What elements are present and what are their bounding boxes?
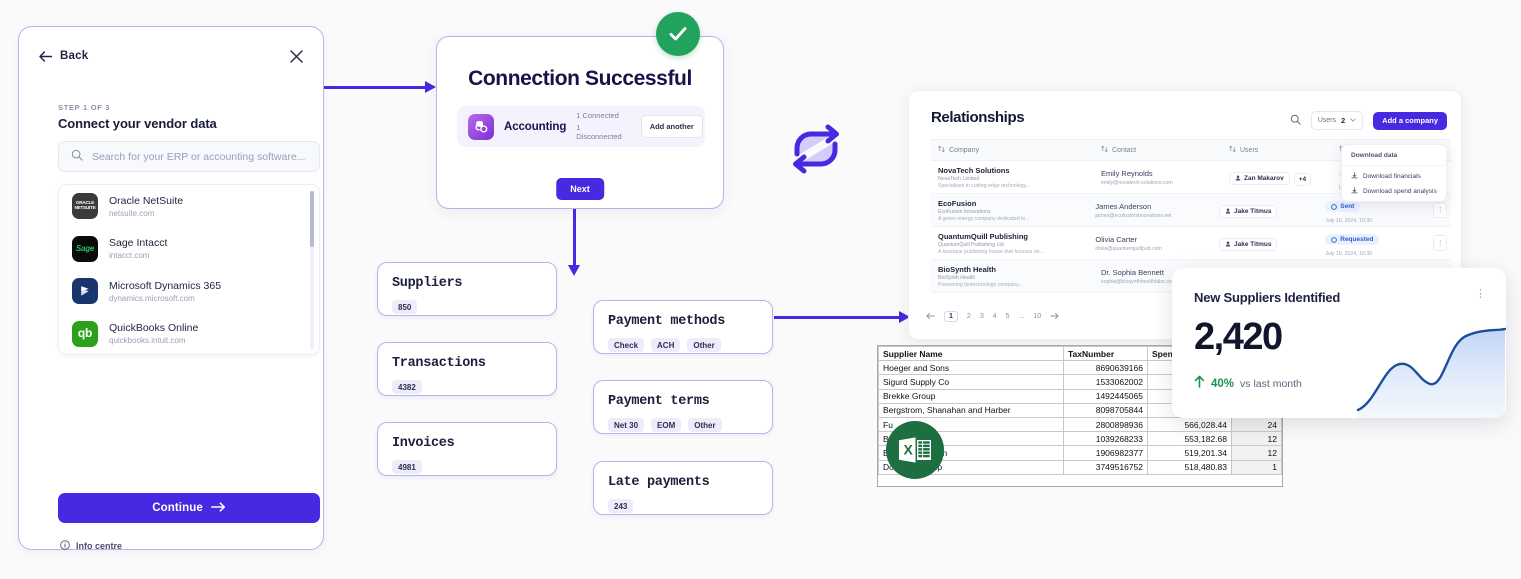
card-title: Invoices — [392, 436, 542, 451]
back-label: Back — [60, 50, 88, 62]
vendor-text: Oracle NetSuitenetsuite.com — [109, 195, 183, 218]
vendor-text: QuickBooks Onlinequickbooks.intuit.com — [109, 322, 198, 345]
card-title: Suppliers — [392, 276, 542, 291]
vendor-list[interactable]: ORACLE NETSUITEOracle NetSuitenetsuite.c… — [58, 184, 320, 355]
vendor-name: Microsoft Dynamics 365 — [109, 280, 221, 292]
cell-users: Jake Titmus — [1219, 201, 1325, 219]
cell-spend: 518,480.83 — [1148, 460, 1232, 474]
cell-company: QuantumQuill PublishingQuantumQuill Publ… — [931, 232, 1095, 255]
connection-title: Connection Successful — [437, 67, 723, 91]
cell-supplier: Bergstrom, Shanahan and Harber — [879, 403, 1064, 417]
pagination-next[interactable] — [1050, 307, 1059, 325]
download-data-menu: Download data Download financials Downlo… — [1341, 144, 1447, 202]
card-title: Late payments — [608, 475, 758, 490]
add-company-button[interactable]: Add a company — [1373, 112, 1447, 130]
card-chips: Net 30 EOM Other — [608, 418, 758, 432]
menu-item-label: Download financials — [1363, 173, 1421, 180]
chip: 4981 — [392, 460, 422, 474]
pagination-page[interactable]: 5 — [1006, 313, 1010, 320]
pagination-page[interactable]: 2 — [967, 313, 971, 320]
arrow-panel-to-connection — [324, 86, 427, 89]
erp-connect-panel: Back STEP 1 OF 3 Connect your vendor dat… — [18, 26, 324, 550]
search-placeholder: Search for your ERP or accounting softwa… — [92, 151, 305, 163]
data-card-payment-terms: Payment terms Net 30 EOM Other — [593, 380, 773, 434]
download-icon — [1351, 187, 1358, 196]
cell-tax: 8690639166 — [1064, 361, 1148, 375]
kpi-delta-pct: 40% — [1211, 378, 1234, 390]
column-header-contact[interactable]: Contact — [1101, 145, 1229, 155]
cell-status: RequestedJuly 10, 2024, 10:30 — [1325, 230, 1433, 257]
pagination-prev[interactable] — [926, 307, 935, 325]
connection-stats: 1 Connected 1 Disconnected — [576, 111, 621, 141]
card-chips: 850 — [392, 300, 542, 314]
cell-contact: Emily Reynoldsemily@novatech-solutions.c… — [1101, 169, 1229, 186]
data-card-invoices: Invoices 4981 — [377, 422, 557, 476]
download-menu-title: Download data — [1342, 145, 1446, 166]
cell-spend: 566,028.44 — [1148, 417, 1232, 431]
arrow-head-1 — [425, 81, 436, 93]
users-filter-count: 2 — [1341, 116, 1345, 125]
sort-icon — [1229, 145, 1236, 155]
chip: 243 — [608, 499, 633, 513]
sort-icon — [1101, 145, 1108, 155]
kpi-card-new-suppliers: New Suppliers Identified ⋮ 2,420 40% vs … — [1172, 268, 1506, 418]
sheet-col-supplier: Supplier Name — [879, 347, 1064, 361]
search-icon[interactable] — [1290, 112, 1301, 130]
users-filter-label: Users — [1318, 117, 1336, 124]
info-icon — [60, 537, 70, 555]
data-card-late-payments: Late payments 243 — [593, 461, 773, 515]
status-badge: Requested — [1325, 234, 1379, 245]
info-centre-label: Info centre — [76, 541, 122, 551]
chip: 850 — [392, 300, 417, 314]
cell-users: Zan Makarov+4 — [1229, 168, 1339, 186]
more-vertical-icon[interactable]: ⋮ — [1475, 290, 1486, 299]
integration-label: Accounting — [504, 121, 566, 133]
cell-spend: 553,182.68 — [1148, 432, 1232, 446]
pagination-pages: 12345...10 — [944, 311, 1041, 322]
cell-tax: 1906982377 — [1064, 446, 1148, 460]
kpi-title: New Suppliers Identified — [1194, 290, 1340, 305]
status-timestamp: July 10, 2024, 10:30 — [1325, 251, 1433, 257]
vendor-rows: ORACLE NETSUITEOracle NetSuitenetsuite.c… — [59, 185, 319, 355]
accounting-icon — [468, 114, 494, 140]
chip: Other — [688, 418, 721, 432]
close-icon[interactable] — [290, 50, 303, 63]
vendor-url: netsuite.com — [109, 209, 183, 218]
chip: EOM — [651, 418, 681, 432]
kpi-sparkline — [1356, 322, 1506, 418]
sort-icon — [938, 145, 945, 155]
column-label: Company — [949, 147, 979, 154]
vendor-list-item[interactable]: Microsoft Dynamics 365dynamics.microsoft… — [59, 270, 319, 313]
continue-button[interactable]: Continue — [58, 493, 320, 523]
info-centre-link[interactable]: Info centre — [60, 537, 122, 555]
page-title: Connect your vendor data — [58, 116, 286, 131]
card-chips: Check ACH Other — [608, 338, 758, 352]
chip: Other — [687, 338, 720, 352]
column-label: Contact — [1112, 147, 1136, 154]
cell-company: NovaTech SolutionsNovaTech LimitedSpecia… — [931, 166, 1101, 189]
vendor-logo-icon — [72, 278, 98, 304]
cell-tax: 2800898936 — [1064, 417, 1148, 431]
vendor-url: dynamics.microsoft.com — [109, 294, 221, 303]
menu-item-label: Download spend analysis — [1363, 188, 1437, 195]
pagination: 12345...10 — [926, 307, 1059, 325]
vendor-list-item[interactable]: SageSage Intacctintacct.com — [59, 228, 319, 271]
cell-tax: 1039268233 — [1064, 432, 1148, 446]
data-card-suppliers: Suppliers 850 — [377, 262, 557, 316]
vendor-text: Sage Intacctintacct.com — [109, 237, 167, 260]
continue-label: Continue — [152, 502, 203, 514]
pagination-page[interactable]: 10 — [1033, 313, 1041, 320]
card-title: Transactions — [392, 356, 542, 371]
cell-tax: 8098705844 — [1064, 403, 1148, 417]
pagination-page[interactable]: ... — [1019, 313, 1025, 320]
cell-contact: Olivia Carterolivia@quantumquillpub.com — [1095, 235, 1219, 252]
pagination-page[interactable]: 1 — [944, 311, 958, 322]
cell-count: 24 — [1232, 417, 1282, 431]
kpi-delta-label: vs last month — [1240, 378, 1302, 390]
status-timestamp: July 10, 2024, 10:30 — [1325, 218, 1433, 224]
relationships-actions: Users 2 Add a company — [1290, 111, 1447, 130]
excel-icon: X — [886, 421, 944, 479]
vendor-text: Microsoft Dynamics 365dynamics.microsoft… — [109, 280, 221, 303]
chip: Net 30 — [608, 418, 644, 432]
card-chips: 243 — [608, 499, 758, 513]
spreadsheet-row[interactable]: Fu2800898936566,028.4424 — [879, 417, 1282, 431]
vendor-name: Sage Intacct — [109, 237, 167, 249]
canvas: Back STEP 1 OF 3 Connect your vendor dat… — [0, 0, 1521, 579]
vendor-logo-icon: ORACLE NETSUITE — [72, 193, 98, 219]
vendor-url: quickbooks.intuit.com — [109, 336, 198, 345]
chip: 4382 — [392, 380, 422, 394]
add-another-button[interactable]: Add another — [641, 115, 703, 138]
cell-spend: 519,201.34 — [1148, 446, 1232, 460]
card-chips: 4382 — [392, 380, 542, 394]
step-eyebrow: STEP 1 OF 3 — [58, 101, 286, 112]
chip: Check — [608, 338, 644, 352]
connection-successful-card: Connection Successful Accounting 1 Conne… — [436, 36, 724, 209]
integration-row: Accounting 1 Connected 1 Disconnected Ad… — [457, 106, 705, 147]
pagination-page[interactable]: 4 — [993, 313, 997, 320]
cell-tax: 1533062002 — [1064, 375, 1148, 389]
status-badge: Sent — [1325, 201, 1360, 212]
column-header-company[interactable]: Company — [931, 145, 1101, 155]
kpi-value: 2,420 — [1194, 316, 1282, 359]
vendor-name: QuickBooks Online — [109, 322, 198, 334]
sync-loop-icon — [785, 118, 847, 180]
search-icon — [71, 148, 83, 166]
users-filter-select[interactable]: Users 2 — [1311, 111, 1363, 130]
sheet-col-tax: TaxNumber — [1064, 347, 1148, 361]
card-chips: 4981 — [392, 460, 542, 474]
table-row[interactable]: QuantumQuill PublishingQuantumQuill Publ… — [931, 227, 1451, 260]
cell-supplier: Hoeger and Sons — [879, 361, 1064, 375]
chip: ACH — [651, 338, 680, 352]
vendor-url: intacct.com — [109, 251, 167, 260]
cell-contact: James Andersonjames@ecofusioninnovations… — [1095, 202, 1219, 219]
arrow-up-icon — [1194, 375, 1205, 393]
vendor-logo-icon: qb — [72, 321, 98, 347]
user-pill[interactable]: Jake Titmus — [1219, 238, 1277, 251]
erp-panel-topbar: Back — [19, 27, 323, 85]
row-menu-icon[interactable]: ⋮ — [1433, 235, 1447, 251]
data-card-transactions: Transactions 4382 — [377, 342, 557, 396]
chevron-down-icon — [1350, 117, 1356, 124]
cell-users: Jake Titmus — [1219, 234, 1325, 252]
back-button[interactable]: Back — [39, 50, 88, 62]
user-pill[interactable]: Jake Titmus — [1219, 205, 1277, 218]
download-financials-item[interactable]: Download financials — [1342, 166, 1446, 181]
step-card: STEP 1 OF 3 Connect your vendor data — [58, 101, 286, 139]
user-overflow-pill[interactable]: +4 — [1294, 173, 1311, 186]
cell-count: 1 — [1232, 460, 1282, 474]
pagination-page[interactable]: 3 — [980, 313, 984, 320]
connected-count: 1 Connected — [576, 111, 621, 120]
search-input[interactable]: Search for your ERP or accounting softwa… — [58, 141, 320, 172]
cell-company: BioSynth HealthBioSynth HealthPioneering… — [931, 265, 1101, 288]
vendor-list-item[interactable]: qbQuickBooks Onlinequickbooks.intuit.com — [59, 313, 319, 356]
download-icon — [1351, 172, 1358, 181]
user-pill[interactable]: Zan Makarov — [1229, 172, 1290, 185]
svg-text:X: X — [904, 442, 914, 458]
kpi-delta: 40% vs last month — [1194, 375, 1302, 393]
check-circle-icon — [656, 12, 700, 56]
next-button[interactable]: Next — [556, 178, 604, 200]
data-card-payment-methods: Payment methods Check ACH Other — [593, 300, 773, 354]
relationships-title: Relationships — [931, 109, 1024, 126]
disconnected-count: 1 Disconnected — [576, 123, 621, 142]
cell-company: EcoFusionEcoFusion InnovationsA green en… — [931, 199, 1095, 222]
download-spend-analysis-item[interactable]: Download spend analysis — [1342, 181, 1446, 196]
card-title: Payment methods — [608, 314, 758, 329]
column-header-users[interactable]: Users — [1229, 145, 1339, 155]
card-title: Payment terms — [608, 394, 758, 409]
cell-count: 12 — [1232, 446, 1282, 460]
vendor-logo-icon: Sage — [72, 236, 98, 262]
arrow-connection-down — [573, 209, 576, 267]
row-menu-icon[interactable]: ⋮ — [1433, 202, 1447, 218]
arrow-right-icon — [211, 502, 226, 515]
vendor-list-item[interactable]: ORACLE NETSUITEOracle NetSuitenetsuite.c… — [59, 185, 319, 228]
cell-supplier: Sigurd Supply Co — [879, 375, 1064, 389]
arrow-cards-to-relationships — [774, 316, 902, 319]
cell-supplier: Brekke Group — [879, 389, 1064, 403]
column-label: Users — [1240, 147, 1258, 154]
cell-tax: 1492445065 — [1064, 389, 1148, 403]
arrow-head-2 — [568, 265, 580, 276]
vendor-list-scrollbar[interactable] — [310, 191, 314, 349]
cell-count: 12 — [1232, 432, 1282, 446]
arrow-left-icon — [39, 51, 52, 62]
scrollbar-thumb[interactable] — [310, 191, 314, 247]
vendor-name: Oracle NetSuite — [109, 195, 183, 207]
cell-tax: 3749516752 — [1064, 460, 1148, 474]
